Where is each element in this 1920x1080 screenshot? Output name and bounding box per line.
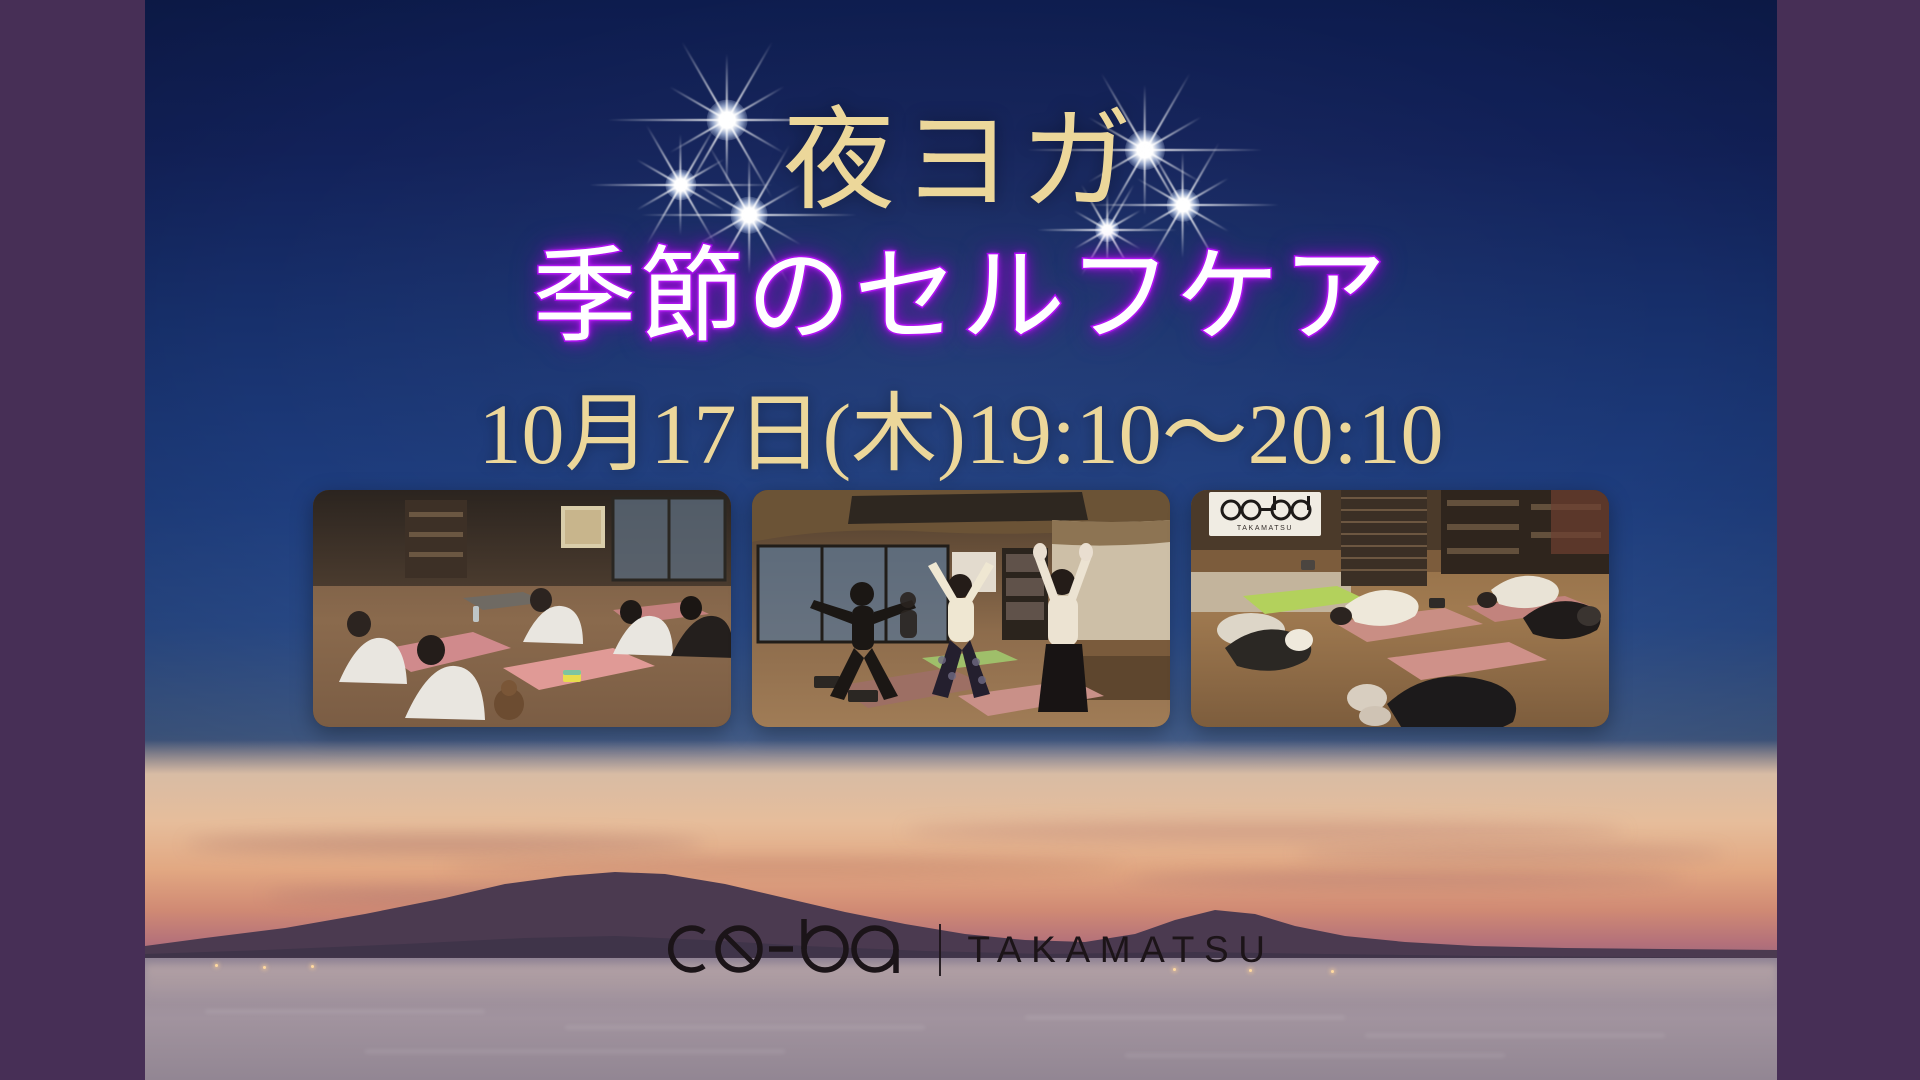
- photo-yoga-standing: [752, 490, 1170, 727]
- poster-root: 夜ヨガ 季節のセルフケア 10月17日(木)19:10〜20:10: [0, 0, 1920, 1080]
- photo-yoga-childs-pose: TAKAMATSU: [1191, 490, 1609, 727]
- event-date-time: 10月17日(木)19:10〜20:10: [145, 387, 1777, 482]
- logo-divider: [939, 924, 941, 976]
- frame-bar-left: [0, 0, 145, 1080]
- coba-logo-icon: [647, 915, 917, 984]
- logo-city-label: TAKAMATSU: [963, 929, 1274, 971]
- sea-streak: [365, 1050, 785, 1053]
- sea-streak: [565, 1026, 925, 1029]
- poster-canvas: 夜ヨガ 季節のセルフケア 10月17日(木)19:10〜20:10: [145, 0, 1777, 1080]
- sunset-band: [145, 740, 1777, 1080]
- sea-streak: [205, 1010, 485, 1013]
- sea-streak: [1125, 1054, 1505, 1057]
- photo-strip: TAKAMATSU: [145, 490, 1777, 727]
- photo-yoga-seated: [313, 490, 731, 727]
- page-title: 夜ヨガ: [145, 96, 1777, 228]
- headline-block: 夜ヨガ 季節のセルフケア 10月17日(木)19:10〜20:10: [145, 96, 1777, 482]
- cloud-streak: [905, 822, 1625, 840]
- sea-streak: [1025, 1016, 1345, 1019]
- frame-bar-right: [1777, 0, 1920, 1080]
- sea-streak: [1365, 1034, 1665, 1037]
- page-subtitle: 季節のセルフケア: [145, 236, 1777, 361]
- brand-logo-lockup: TAKAMATSU: [145, 915, 1777, 984]
- svg-text:TAKAMATSU: TAKAMATSU: [1237, 525, 1293, 532]
